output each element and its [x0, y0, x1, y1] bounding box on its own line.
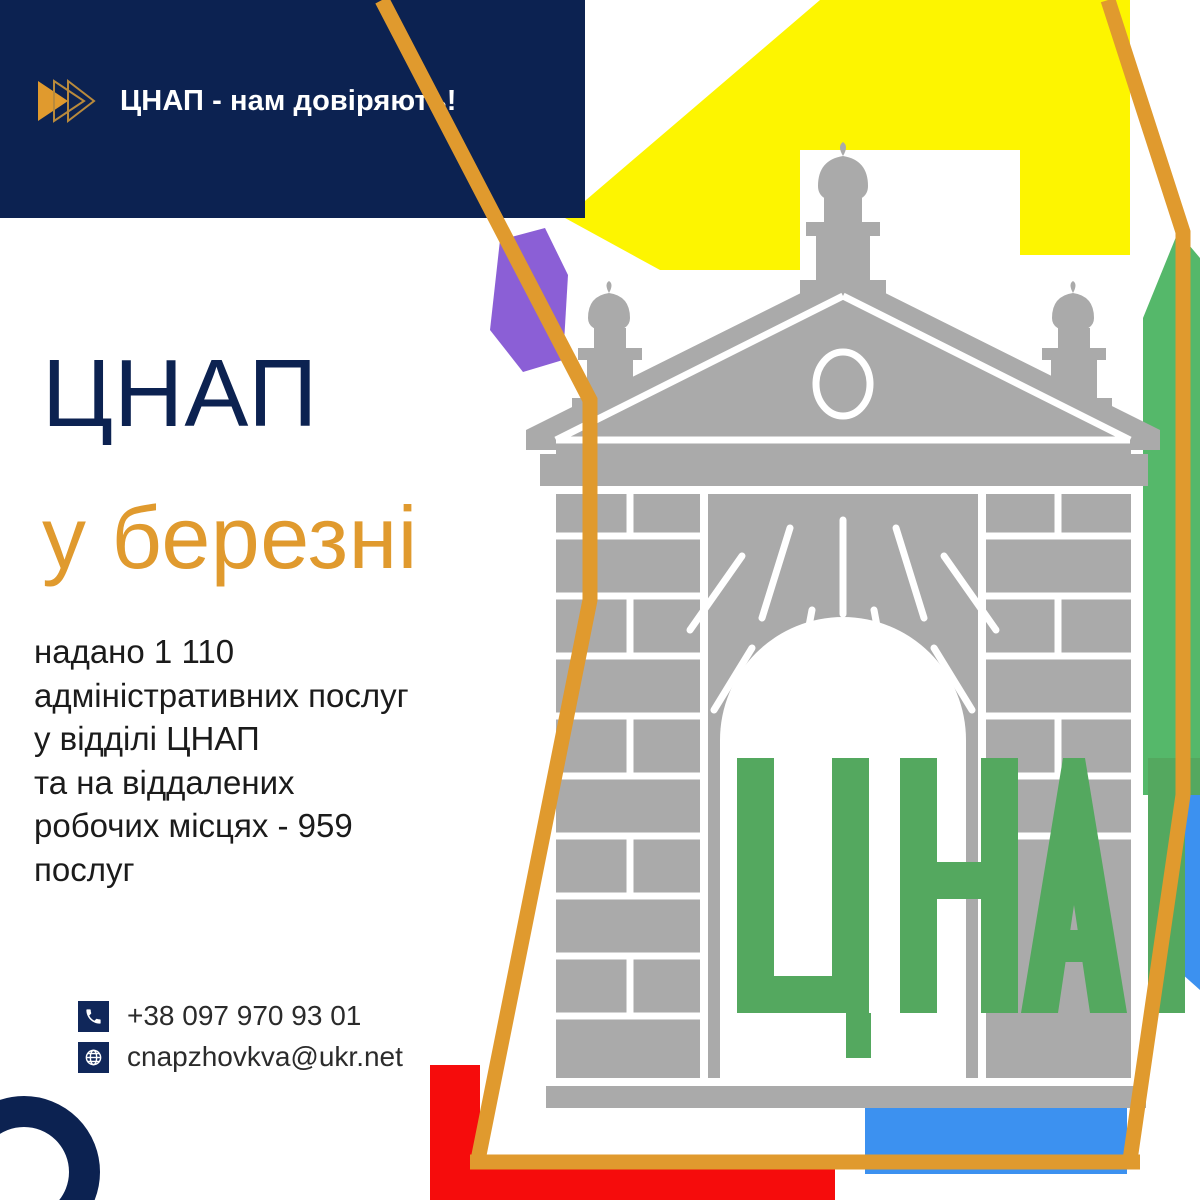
headline-secondary: у березні — [42, 494, 418, 582]
phone-number: +38 097 970 93 01 — [127, 1000, 361, 1032]
contact-list: +38 097 970 93 01 cnapzhovkva@ukr.net — [78, 1000, 403, 1073]
poster-canvas: ЦНАП - нам довіряють! ЦНАП у березні над… — [0, 0, 1200, 1200]
contact-row-phone[interactable]: +38 097 970 93 01 — [78, 1000, 403, 1032]
phone-icon — [78, 1001, 109, 1032]
globe-icon — [78, 1042, 109, 1073]
headline-primary: ЦНАП — [42, 346, 318, 442]
email-address: cnapzhovkva@ukr.net — [127, 1041, 403, 1073]
body-paragraph: надано 1 110 адміністративних послуг у в… — [34, 630, 564, 891]
orange-diagonal-right — [1108, 0, 1183, 1160]
contact-row-email[interactable]: cnapzhovkva@ukr.net — [78, 1041, 403, 1073]
